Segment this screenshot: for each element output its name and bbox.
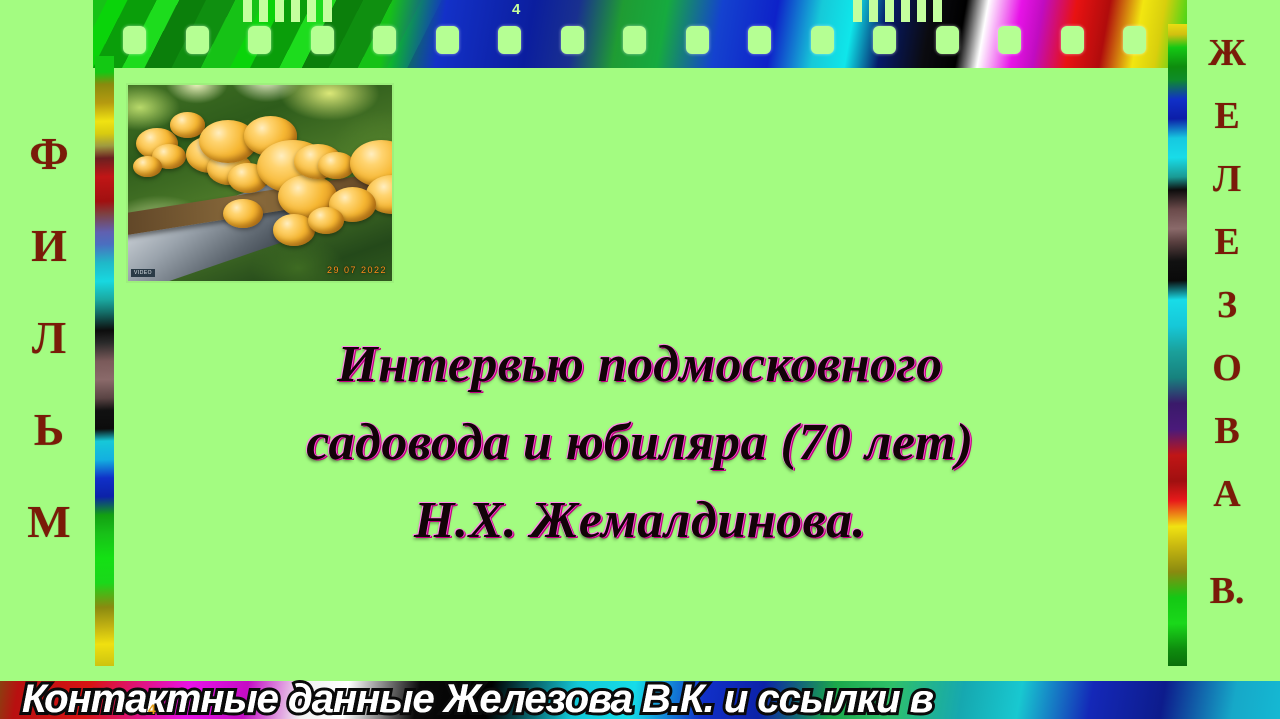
title-line-2: садовода и юбиляра (70 лет) xyxy=(140,404,1140,482)
filmstrip-tick xyxy=(869,0,878,22)
vertical-letter: В xyxy=(1214,400,1239,463)
title-line-1: Интервью подмосковного xyxy=(140,326,1140,404)
sprocket-hole xyxy=(1123,26,1146,54)
sprocket-hole xyxy=(998,26,1021,54)
sprocket-hole xyxy=(436,26,459,54)
title-line-3: Н.Х. Жемалдинова. xyxy=(140,482,1140,560)
vertical-letter: Е xyxy=(1214,211,1239,274)
frame-number-top: 4 xyxy=(512,1,520,18)
filmstrip-tick xyxy=(307,0,316,22)
apricot-fruit xyxy=(308,207,345,234)
filmstrip-tick xyxy=(259,0,268,22)
photo-watermark: VIDEO xyxy=(131,269,155,277)
page-title: Интервью подмосковного садовода и юбиляр… xyxy=(140,326,1140,560)
filmstrip-tick xyxy=(885,0,894,22)
vertical-letter: Л xyxy=(32,292,66,384)
filmstrip-tick xyxy=(243,0,252,22)
vertical-letter: О xyxy=(1212,337,1242,400)
sprocket-hole xyxy=(311,26,334,54)
subtitle-caption: Контактные данные Железова В.К. и ссылки… xyxy=(22,677,933,719)
sprocket-hole xyxy=(373,26,396,54)
sprocket-hole xyxy=(248,26,271,54)
vertical-letter: Л xyxy=(1213,148,1241,211)
sprocket-hole xyxy=(873,26,896,54)
apricot-fruit xyxy=(133,156,162,178)
vertical-letter: В. xyxy=(1210,560,1245,623)
vertical-letter: Ф xyxy=(29,108,69,200)
video-frame: 4 ФИЛЬМ ЖЕЛЕЗОВАВ. 29 07 2022 VIDEO Инте… xyxy=(0,0,1280,719)
sprocket-hole xyxy=(686,26,709,54)
top-filmstrip xyxy=(93,0,1187,68)
right-rainbow-stripe-gradient xyxy=(1168,24,1187,666)
filmstrip-tick xyxy=(901,0,910,22)
vertical-letter: Ь xyxy=(34,384,64,476)
frame-number-bottom: 4 xyxy=(148,701,156,717)
vertical-letter: А xyxy=(1213,463,1240,526)
filmstrip-tick xyxy=(323,0,332,22)
filmstrip-tick xyxy=(275,0,284,22)
filmstrip-tick xyxy=(917,0,926,22)
vertical-letter: М xyxy=(27,476,70,568)
sprocket-hole xyxy=(748,26,771,54)
sprocket-hole xyxy=(936,26,959,54)
left-rainbow-stripe xyxy=(95,56,114,666)
apricots-on-branch-photo: 29 07 2022 VIDEO xyxy=(126,83,394,283)
right-vertical-title: ЖЕЛЕЗОВАВ. xyxy=(1196,22,1258,623)
sprocket-hole xyxy=(123,26,146,54)
photo-date-stamp: 29 07 2022 xyxy=(327,265,387,275)
filmstrip-tick xyxy=(933,0,942,22)
vertical-letter: И xyxy=(31,200,67,292)
sprocket-hole xyxy=(623,26,646,54)
vertical-letter: Е xyxy=(1214,85,1239,148)
vertical-letter: З xyxy=(1217,274,1237,337)
vertical-letter: Ж xyxy=(1208,22,1246,85)
filmstrip-tick xyxy=(853,0,862,22)
left-rainbow-stripe-gradient xyxy=(95,56,114,666)
apricot-fruit xyxy=(223,199,263,228)
filmstrip-tick xyxy=(291,0,300,22)
right-rainbow-stripe xyxy=(1168,24,1187,666)
sprocket-hole xyxy=(1061,26,1084,54)
left-vertical-title: ФИЛЬМ xyxy=(18,108,80,568)
sprocket-hole xyxy=(811,26,834,54)
sprocket-hole xyxy=(498,26,521,54)
sprocket-hole xyxy=(186,26,209,54)
sprocket-hole xyxy=(561,26,584,54)
